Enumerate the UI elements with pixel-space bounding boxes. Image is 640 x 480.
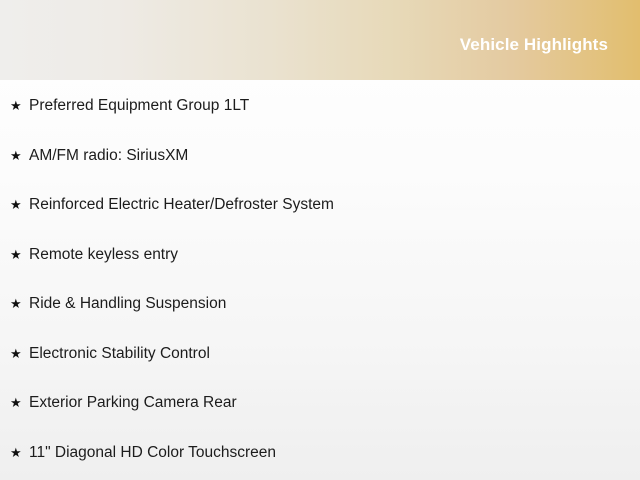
vehicle-highlights-list: ★ Preferred Equipment Group 1LT ★ AM/FM … [0, 80, 640, 480]
list-item-label: 11" Diagonal HD Color Touchscreen [29, 445, 640, 461]
star-icon: ★ [10, 347, 29, 360]
list-item-label: Remote keyless entry [29, 247, 640, 263]
list-item-label: Exterior Parking Camera Rear [29, 395, 640, 411]
star-icon: ★ [10, 99, 29, 112]
list-item: ★ Exterior Parking Camera Rear [0, 395, 640, 445]
list-item: ★ Electronic Stability Control [0, 346, 640, 396]
star-icon: ★ [10, 396, 29, 409]
list-item-label: Reinforced Electric Heater/Defroster Sys… [29, 197, 640, 213]
star-icon: ★ [10, 248, 29, 261]
panel-header: Vehicle Highlights [0, 0, 640, 80]
list-item: ★ Preferred Equipment Group 1LT [0, 80, 640, 148]
list-item: ★ Remote keyless entry [0, 247, 640, 297]
star-icon: ★ [10, 297, 29, 310]
list-item-label: Electronic Stability Control [29, 346, 640, 362]
list-item: ★ 11" Diagonal HD Color Touchscreen [0, 445, 640, 480]
list-item-label: AM/FM radio: SiriusXM [29, 148, 640, 164]
star-icon: ★ [10, 446, 29, 459]
list-item: ★ Ride & Handling Suspension [0, 296, 640, 346]
list-item-label: Preferred Equipment Group 1LT [29, 98, 640, 114]
list-item: ★ Reinforced Electric Heater/Defroster S… [0, 197, 640, 247]
vehicle-highlights-panel: Vehicle Highlights ★ Preferred Equipment… [0, 0, 640, 480]
list-item: ★ AM/FM radio: SiriusXM [0, 148, 640, 198]
star-icon: ★ [10, 149, 29, 162]
page-title: Vehicle Highlights [460, 36, 608, 53]
list-item-label: Ride & Handling Suspension [29, 296, 640, 312]
star-icon: ★ [10, 198, 29, 211]
